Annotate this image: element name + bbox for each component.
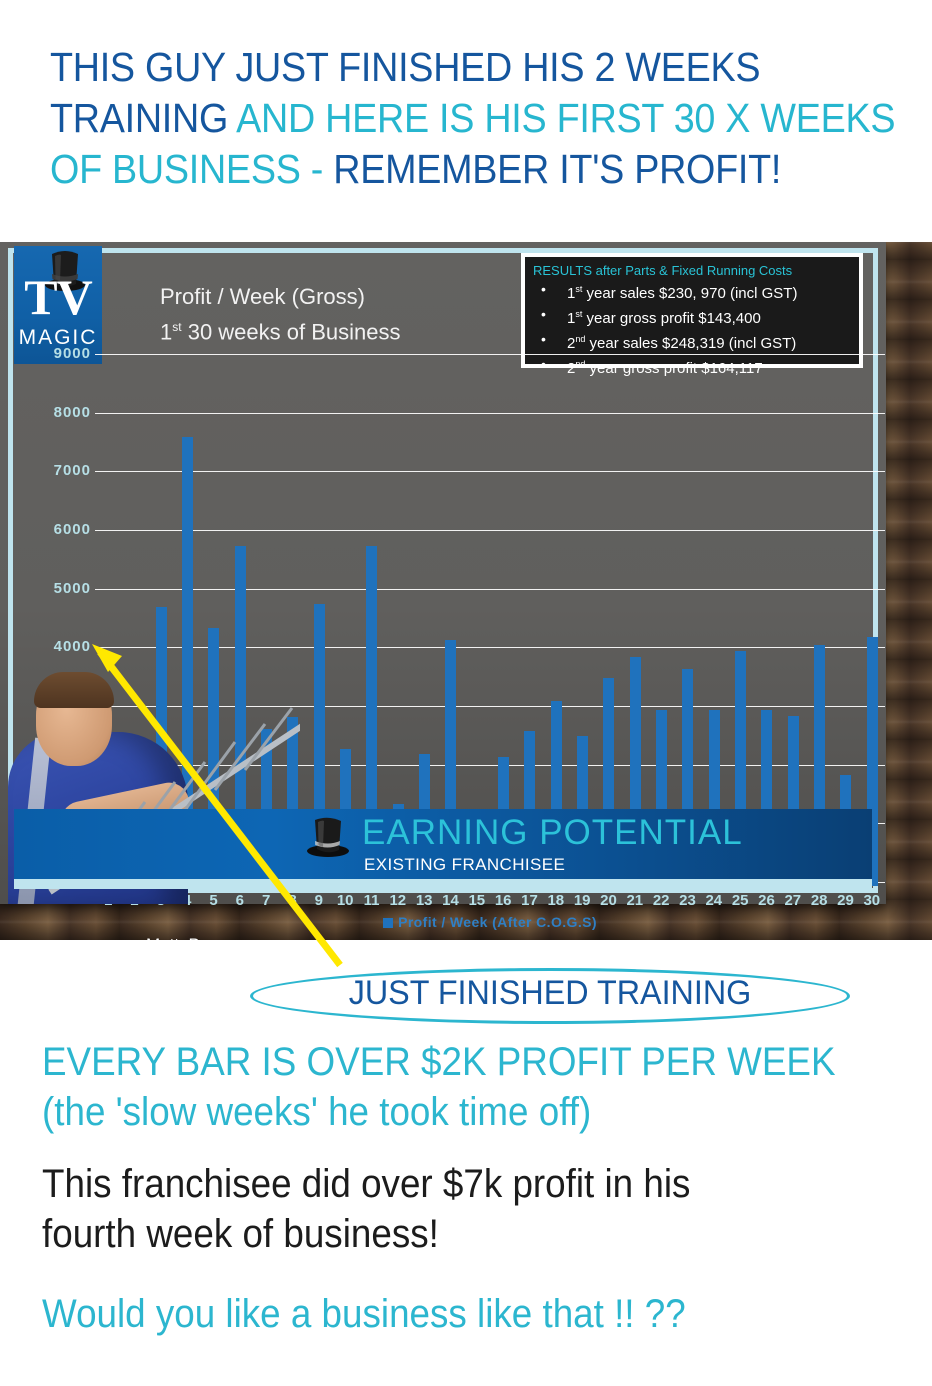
bar-column [332, 358, 358, 886]
bar-column [701, 358, 727, 886]
x-axis-tick-label: 11 [358, 892, 384, 909]
headline-line-2-cyan: AND HERE IS HIS FIRST 30 X WEEKS [236, 95, 895, 141]
x-axis-tick-label: 23 [674, 892, 700, 909]
y-axis-tick-label: 9000 [1, 345, 91, 362]
x-axis-tick-label: 24 [701, 892, 727, 909]
bar-column [622, 358, 648, 886]
bar-column [358, 358, 384, 886]
x-axis-tick-label: 13 [411, 892, 437, 909]
bar-column [780, 358, 806, 886]
x-axis-tick-label: 30 [859, 892, 885, 909]
bottom-line-1: EVERY BAR IS OVER $2K PROFIT PER WEEK [42, 1040, 836, 1085]
bottom-line-5: Would you like a business like that !! ?… [42, 1292, 686, 1337]
bar-column [306, 358, 332, 886]
x-axis-tick-label: 9 [306, 892, 332, 909]
headline-line-1-text: THIS GUY JUST FINISHED HIS 2 WEEKS [50, 44, 760, 90]
results-item: 1st year gross profit $143,400 [533, 304, 851, 329]
bar-column [490, 358, 516, 886]
top-hat-icon [306, 815, 350, 859]
x-axis-tick-label: 17 [516, 892, 542, 909]
banner-subtitle: EXISTING FRANCHISEE [364, 855, 565, 875]
x-axis-tick-label: 22 [648, 892, 674, 909]
x-axis-tick-label: 29 [832, 892, 858, 909]
bar-column [727, 358, 753, 886]
banner-title: EARNING POTENTIAL [362, 813, 743, 853]
x-axis-tick-label: 10 [332, 892, 358, 909]
logo-tv-text: TV [14, 272, 102, 322]
y-axis-tick-label: 7000 [1, 462, 91, 479]
results-item: 1st year sales $230, 970 (incl GST) [533, 279, 851, 304]
chart-title: Profit / Week (Gross) 1st 30 weeks of Bu… [160, 282, 500, 347]
bar-column [437, 358, 463, 886]
just-finished-training-callout: JUST FINISHED TRAINING [250, 968, 850, 1024]
chart-title-line-1: Profit / Week (Gross) [160, 282, 500, 312]
x-axis-tick-label: 19 [569, 892, 595, 909]
bar-column [543, 358, 569, 886]
bar-column [411, 358, 437, 886]
franchisee-name: Matt, B [146, 934, 244, 940]
bar-column [832, 358, 858, 886]
gridline [95, 354, 885, 355]
earning-potential-banner: EARNING POTENTIAL EXISTING FRANCHISEE [14, 809, 872, 879]
headline-line-3: OF BUSINESS - REMEMBER IT'S PROFIT! [50, 144, 815, 195]
headline-line-3-cyan: OF BUSINESS - [50, 146, 333, 192]
chart-legend: Profit / Week (After C.O.G.S) [95, 914, 885, 930]
x-axis-tick-label: 20 [595, 892, 621, 909]
x-axis-tick-label: 25 [727, 892, 753, 909]
bar-column [464, 358, 490, 886]
x-axis-tick-label: 26 [753, 892, 779, 909]
bar-column [648, 358, 674, 886]
bar-column [674, 358, 700, 886]
chart-title-line-2: 1st 30 weeks of Business [160, 312, 500, 347]
y-axis-tick-label: 6000 [1, 521, 91, 538]
bar-column [516, 358, 542, 886]
y-axis-tick-label: 8000 [1, 404, 91, 421]
bottom-line-3: This franchisee did over $7k profit in h… [42, 1162, 690, 1207]
results-heading: RESULTS after Parts & Fixed Running Cost… [533, 262, 851, 279]
x-axis-tick-label: 27 [780, 892, 806, 909]
presentation-slide-image: TV MAGIC Profit / Week (Gross) 1st 30 we… [0, 242, 932, 940]
x-axis-tick-label: 28 [806, 892, 832, 909]
headline-line-2: TRAINING AND HERE IS HIS FIRST 30 X WEEK… [50, 93, 815, 144]
legend-label: Profit / Week (After C.O.G.S) [398, 914, 597, 930]
bottom-line-2: (the 'slow weeks' he took time off) [42, 1090, 591, 1135]
legend-swatch [383, 918, 393, 928]
results-callout-box: RESULTS after Parts & Fixed Running Cost… [521, 253, 863, 368]
y-axis-tick-label: 4000 [1, 638, 91, 655]
bar-column [806, 358, 832, 886]
x-axis-tick-label: 15 [464, 892, 490, 909]
banner-footer-strip [14, 879, 872, 889]
x-axis-tick-label: 12 [385, 892, 411, 909]
headline-line-2-navy: TRAINING [50, 95, 236, 141]
x-axis-tick-label: 14 [437, 892, 463, 909]
x-axis-tick-label: 18 [543, 892, 569, 909]
x-axis-tick-label: 21 [622, 892, 648, 909]
callout-text: JUST FINISHED TRAINING [265, 974, 835, 1013]
franchisee-label: Matt, B Nth Brisbane [146, 934, 244, 940]
results-item: 2nd year sales $248,319 (incl GST) [533, 329, 851, 354]
bar-column [753, 358, 779, 886]
bar-column [569, 358, 595, 886]
headline: THIS GUY JUST FINISHED HIS 2 WEEKS TRAIN… [0, 42, 932, 195]
headline-line-3-navy: REMEMBER IT'S PROFIT! [333, 146, 781, 192]
bar-column [595, 358, 621, 886]
bottom-line-4: fourth week of business! [42, 1212, 439, 1257]
y-axis-tick-label: 5000 [1, 580, 91, 597]
x-axis-tick-label: 16 [490, 892, 516, 909]
bar-column [385, 358, 411, 886]
headline-line-1: THIS GUY JUST FINISHED HIS 2 WEEKS [50, 42, 815, 93]
bar-column [859, 358, 885, 886]
